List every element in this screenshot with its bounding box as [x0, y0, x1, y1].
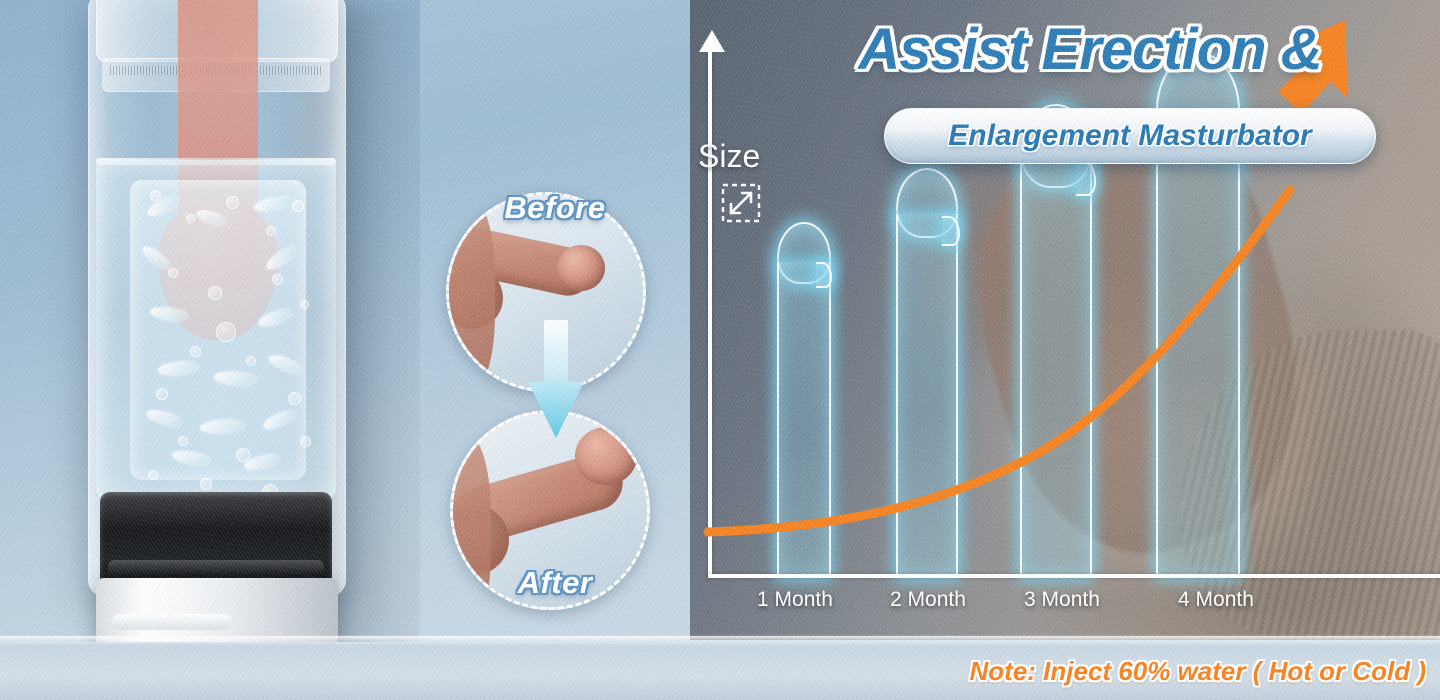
after-glans	[575, 427, 637, 485]
y-axis	[708, 46, 712, 578]
down-arrow-icon	[528, 320, 584, 440]
before-glans	[557, 245, 605, 291]
x-tick-label-3: 3 Month	[997, 588, 1127, 612]
bubble	[150, 190, 161, 201]
bubble	[168, 268, 178, 278]
expand-resize-icon	[720, 182, 762, 224]
bar-1-month	[777, 262, 831, 578]
before-after-panel: Before After	[420, 0, 690, 700]
bubble	[216, 322, 236, 342]
note-text: Note: Inject 60% water ( Hot or Cold )	[970, 656, 1427, 687]
bubble	[236, 448, 250, 462]
bubble	[266, 226, 276, 236]
bubble	[186, 214, 195, 223]
bubble	[300, 436, 311, 447]
subtitle-badge-label: Enlargement Masturbator	[948, 119, 1311, 153]
bubble	[288, 392, 301, 405]
bubble	[246, 356, 256, 366]
bubble	[148, 470, 158, 480]
page-title: Assist Erection &	[760, 16, 1420, 83]
bubble	[292, 200, 304, 212]
x-tick-label-2: 2 Month	[863, 588, 993, 612]
floor-edge-line	[0, 636, 1440, 642]
bar-2-month	[896, 214, 958, 578]
bubble	[208, 286, 222, 300]
bar-3-month	[1020, 158, 1092, 578]
product-banner: Before After	[0, 0, 1440, 700]
product-base-ring	[108, 560, 324, 576]
y-axis-arrow-icon	[699, 30, 725, 52]
bubble	[300, 300, 309, 309]
y-axis-title: Size	[698, 138, 760, 175]
x-tick-label-1: 1 Month	[730, 588, 860, 612]
growth-chart: Size Time 1 Month 2 Month 3 Month 4 Mont…	[690, 0, 1440, 640]
product-photo-panel	[0, 0, 420, 700]
bubble	[156, 388, 168, 400]
pedestal-slot	[112, 614, 232, 630]
bubble	[226, 196, 239, 209]
bubble	[190, 346, 201, 357]
x-axis	[708, 574, 1440, 578]
x-tick-label-4: 4 Month	[1151, 588, 1281, 612]
after-label: After	[420, 565, 690, 601]
subtitle-badge: Enlargement Masturbator	[884, 108, 1376, 164]
bubble	[272, 274, 283, 285]
bubble	[178, 436, 188, 446]
bubble	[200, 478, 212, 490]
before-label: Before	[420, 190, 690, 226]
bar-4-month	[1156, 118, 1240, 578]
